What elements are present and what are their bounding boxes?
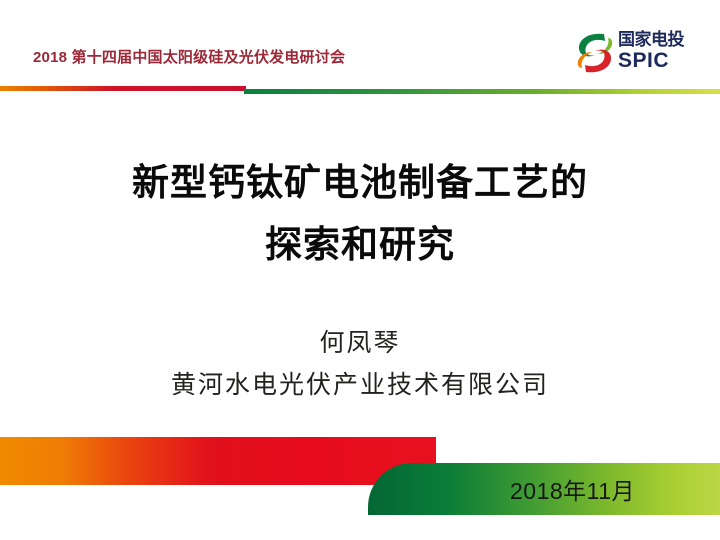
conference-title: 2018 第十四届中国太阳级硅及光伏发电研讨会: [33, 46, 345, 67]
logo-english-name: SPIC: [618, 50, 700, 71]
spic-swirl-icon: [574, 30, 616, 76]
author-block: 何凤琴 黄河水电光伏产业技术有限公司: [0, 322, 720, 406]
author-name: 何凤琴: [0, 322, 720, 364]
title-line-2: 探索和研究: [0, 214, 720, 276]
accent-bar-green: [244, 89, 720, 94]
author-affiliation: 黄河水电光伏产业技术有限公司: [0, 364, 720, 406]
spic-logo: 国家电投 SPIC: [574, 28, 700, 80]
logo-chinese-name: 国家电投: [618, 31, 700, 48]
presentation-date: 2018年11月: [368, 463, 720, 515]
title-line-1: 新型钙钛矿电池制备工艺的: [0, 152, 720, 214]
presentation-title-slide: 2018 第十四届中国太阳级硅及光伏发电研讨会 国家电投 SPIC 新型钙钛矿电…: [0, 0, 720, 540]
accent-bar-red: [0, 86, 246, 91]
title-block: 新型钙钛矿电池制备工艺的 探索和研究: [0, 152, 720, 276]
spic-wordmark: 国家电投 SPIC: [618, 31, 700, 77]
